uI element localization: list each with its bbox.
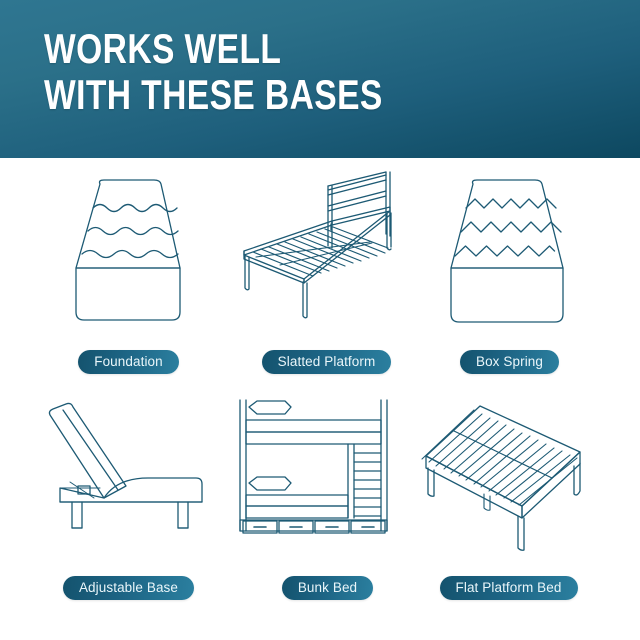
- flat-platform-bed-icon: [402, 390, 615, 580]
- base-card-flat-platform-bed[interactable]: Flat Platform Bed: [402, 390, 615, 631]
- adjustable-base-icon: [22, 390, 235, 580]
- label-wrap-flat-platform-bed: Flat Platform Bed: [402, 576, 615, 600]
- base-card-slatted-platform[interactable]: Slatted Platform: [220, 164, 433, 405]
- base-label-box-spring[interactable]: Box Spring: [460, 350, 559, 374]
- base-label-bunk-bed[interactable]: Bunk Bed: [282, 576, 373, 600]
- base-label-foundation[interactable]: Foundation: [78, 350, 179, 374]
- base-label-adjustable-base[interactable]: Adjustable Base: [63, 576, 194, 600]
- base-card-foundation[interactable]: Foundation: [22, 164, 235, 405]
- slatted-platform-bed-icon: [220, 164, 433, 354]
- box-spring-icon: [403, 164, 616, 354]
- label-wrap-slatted-platform: Slatted Platform: [220, 350, 433, 374]
- label-wrap-box-spring: Box Spring: [403, 350, 616, 374]
- label-wrap-foundation: Foundation: [22, 350, 235, 374]
- foundation-mattress-icon: [22, 164, 235, 354]
- label-wrap-adjustable-base: Adjustable Base: [22, 576, 235, 600]
- base-card-box-spring[interactable]: Box Spring: [403, 164, 616, 405]
- bases-grid: Foundation: [0, 158, 640, 640]
- infographic-page: WORKS WELL WITH THESE BASES: [0, 0, 640, 640]
- base-card-adjustable-base[interactable]: Adjustable Base: [22, 390, 235, 631]
- header-banner: WORKS WELL WITH THESE BASES: [0, 0, 640, 158]
- base-label-flat-platform-bed[interactable]: Flat Platform Bed: [440, 576, 578, 600]
- page-title: WORKS WELL WITH THESE BASES: [44, 26, 383, 118]
- base-label-slatted-platform[interactable]: Slatted Platform: [262, 350, 392, 374]
